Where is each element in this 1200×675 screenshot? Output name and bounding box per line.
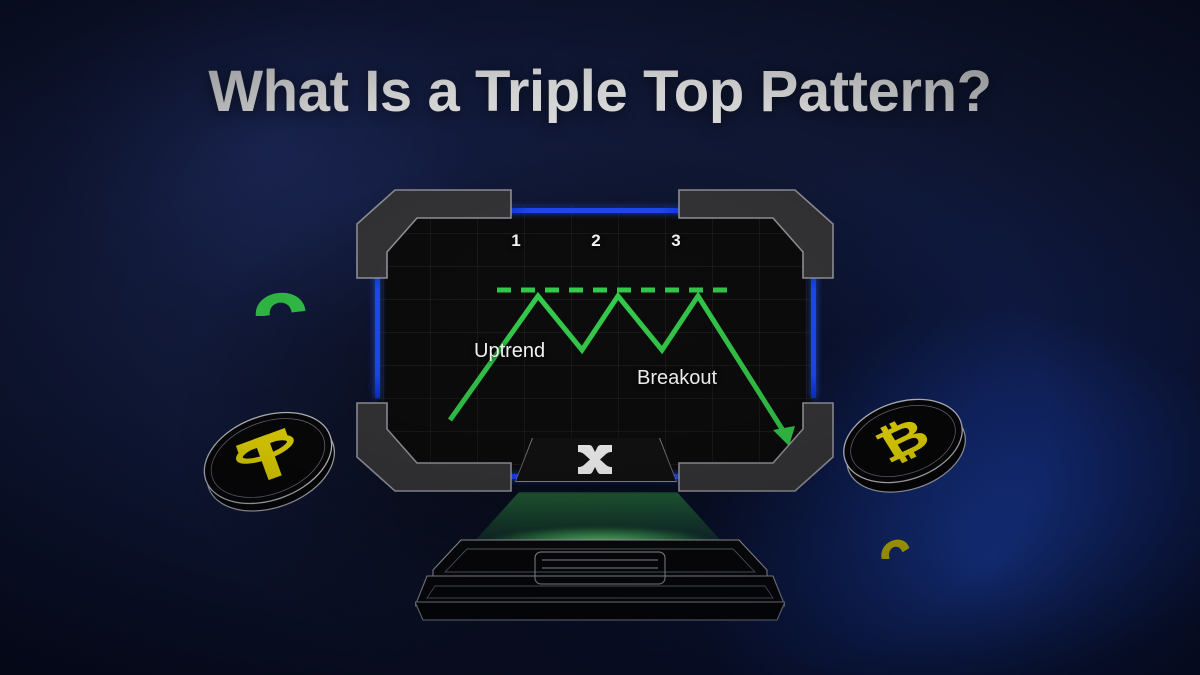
global-vignette xyxy=(0,0,1200,675)
slide-canvas: What Is a Triple Top Pattern? xyxy=(0,0,1200,675)
